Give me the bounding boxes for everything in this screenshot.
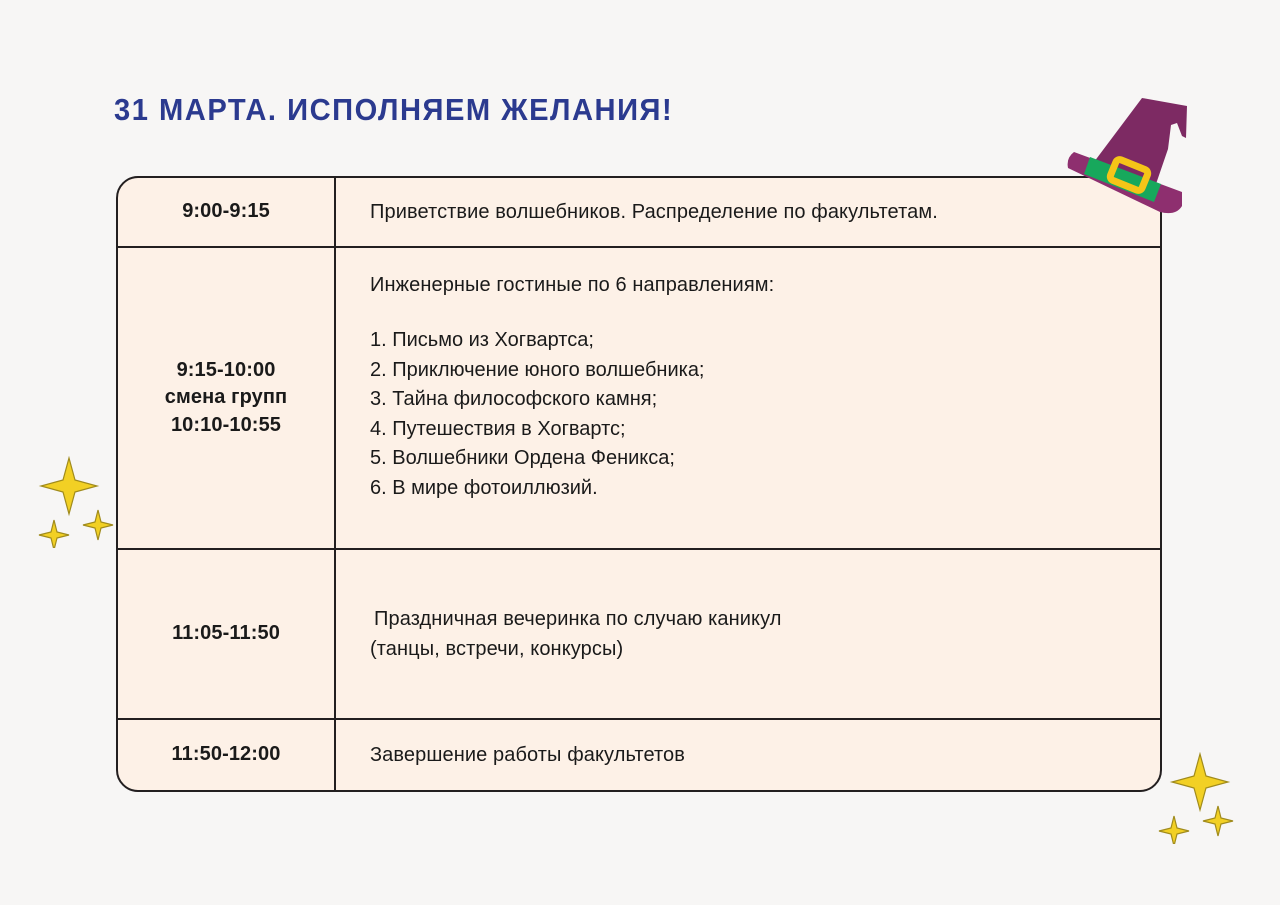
list-item: 3. Тайна философского камня; bbox=[370, 385, 1142, 415]
description-line: (танцы, встречи, конкурсы) bbox=[370, 634, 1142, 664]
table-row: 9:00-9:15 Приветствие волшебников. Распр… bbox=[118, 178, 1160, 248]
time-line: 10:10-10:55 bbox=[171, 412, 281, 440]
list-item: 6. В мире фотоиллюзий. bbox=[370, 474, 1142, 504]
description-cell: Приветствие волшебников. Распределение п… bbox=[336, 178, 1160, 246]
poster-canvas: 31 МАРТА. ИСПОЛНЯЕМ ЖЕЛАНИЯ! 9:00-9:15 П… bbox=[0, 0, 1280, 905]
time-line: 9:15-10:00 bbox=[177, 357, 276, 385]
spacer bbox=[370, 300, 1142, 326]
description-cell: Праздничная вечеринка по случаю каникул … bbox=[336, 550, 1160, 718]
page-title: 31 МАРТА. ИСПОЛНЯЕМ ЖЕЛАНИЯ! bbox=[114, 92, 673, 128]
table-row: 9:15-10:00 смена групп 10:10-10:55 Инжен… bbox=[118, 248, 1160, 550]
time-cell: 9:15-10:00 смена групп 10:10-10:55 bbox=[118, 248, 336, 548]
table-row: 11:50-12:00 Завершение работы факультето… bbox=[118, 720, 1160, 790]
time-cell: 9:00-9:15 bbox=[118, 178, 336, 246]
time-cell: 11:05-11:50 bbox=[118, 550, 336, 718]
table-row: 11:05-11:50 Праздничная вечеринка по слу… bbox=[118, 550, 1160, 720]
time-line: 11:50-12:00 bbox=[172, 741, 281, 769]
description-line: Приветствие волшебников. Распределение п… bbox=[370, 197, 1142, 227]
schedule-table: 9:00-9:15 Приветствие волшебников. Распр… bbox=[116, 176, 1162, 792]
time-line: 11:05-11:50 bbox=[172, 620, 280, 648]
list-item: 5. Волшебники Ордена Феникса; bbox=[370, 444, 1142, 474]
time-cell: 11:50-12:00 bbox=[118, 720, 336, 790]
description-cell: Инженерные гостиные по 6 направлениям: 1… bbox=[336, 248, 1160, 548]
time-line: 9:00-9:15 bbox=[182, 198, 270, 226]
list-item: 1. Письмо из Хогвартса; bbox=[370, 326, 1142, 356]
description-cell: Завершение работы факультетов bbox=[336, 720, 1160, 790]
sparkle-icon bbox=[1156, 752, 1248, 844]
sparkle-icon bbox=[36, 456, 118, 548]
list-item: 4. Путешествия в Хогвартс; bbox=[370, 415, 1142, 445]
description-line: Завершение работы факультетов bbox=[370, 740, 1142, 770]
list-intro: Инженерные гостиные по 6 направлениям: bbox=[370, 270, 1142, 300]
time-line: смена групп bbox=[165, 384, 287, 412]
description-line: Праздничная вечеринка по случаю каникул bbox=[370, 604, 1142, 634]
list-item: 2. Приключение юного волшебника; bbox=[370, 356, 1142, 386]
